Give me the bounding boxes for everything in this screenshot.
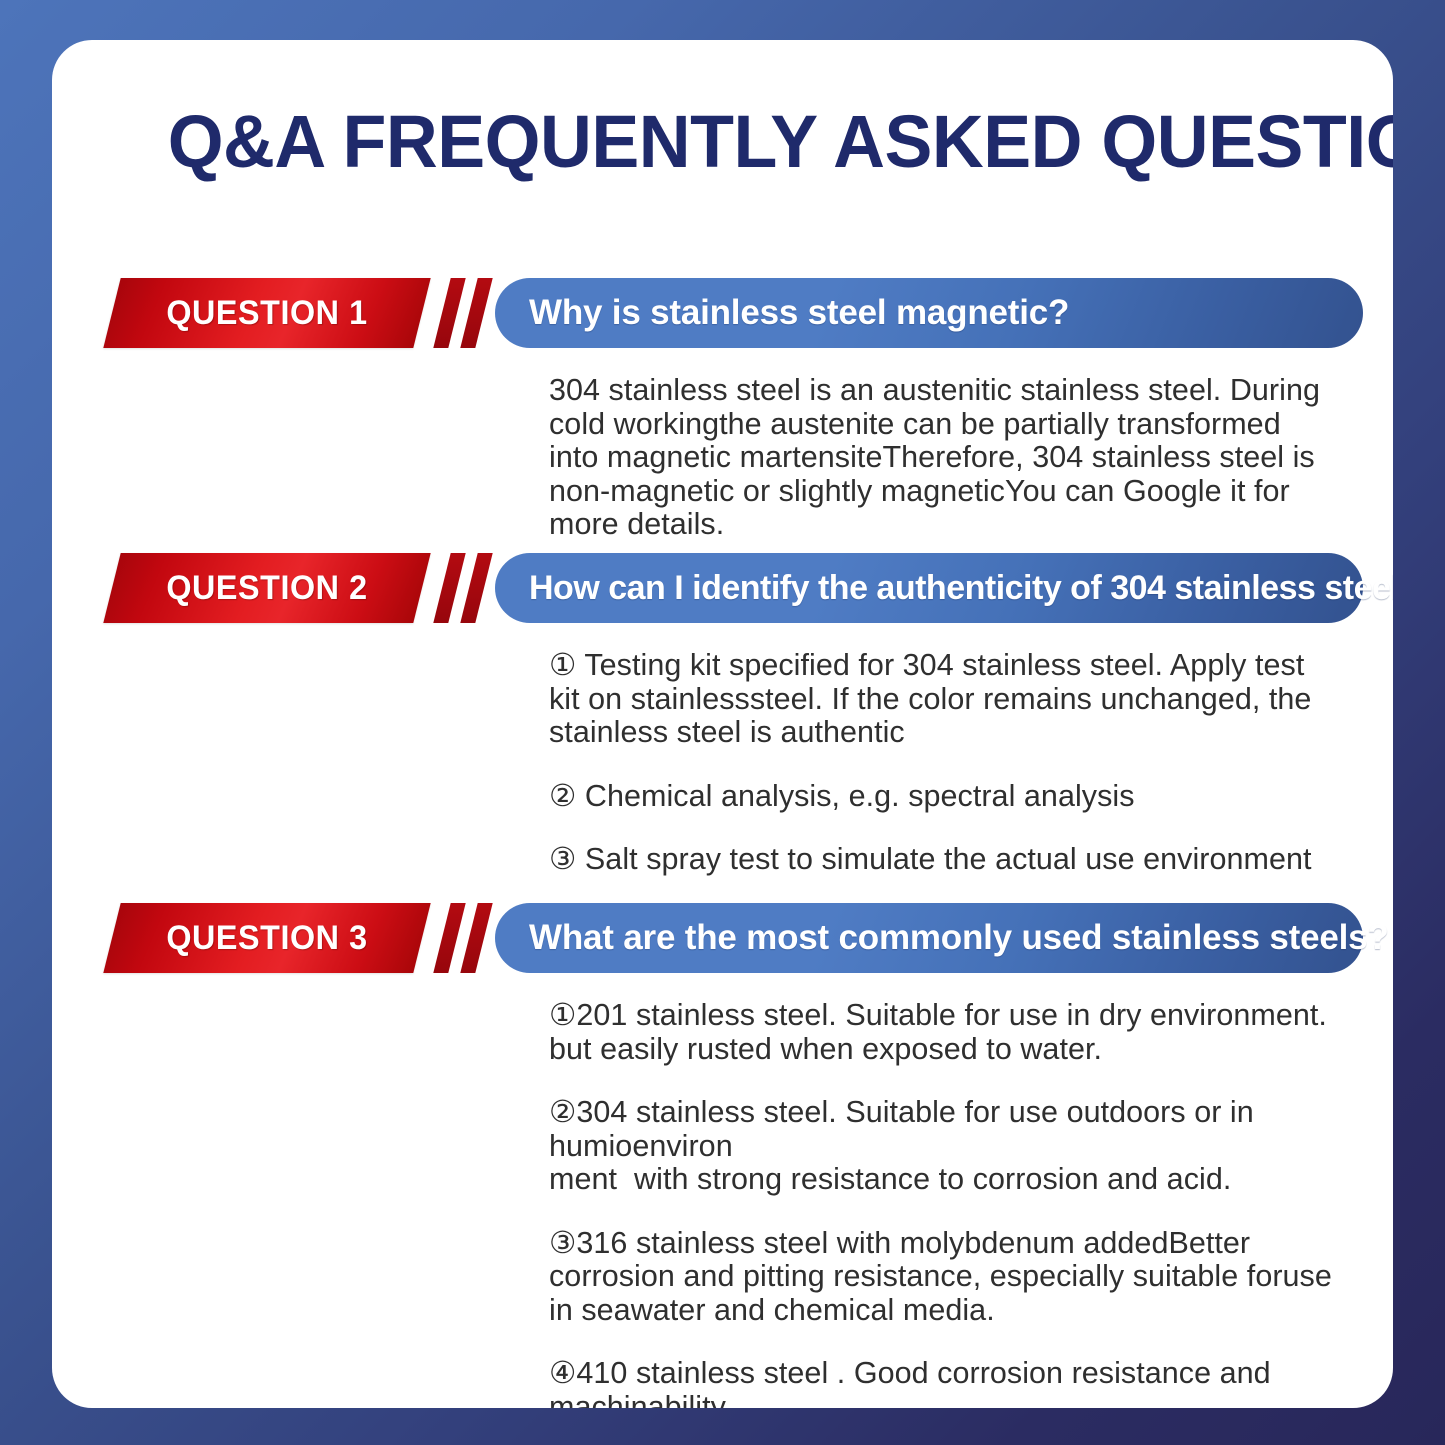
answer-paragraph: ①201 stainless steel. Suitable for use i… <box>549 999 1333 1066</box>
answer-paragraph: 304 stainless steel is an austenitic sta… <box>549 374 1333 542</box>
answer-list-1: 304 stainless steel is an austenitic sta… <box>549 374 1333 542</box>
faq-banner-3: QUESTION 3 What are the most commonly us… <box>52 903 1393 975</box>
faq-item-2: QUESTION 2 How can I identify the authen… <box>52 553 1393 625</box>
question-tag-label-2: QUESTION 2 <box>120 553 415 623</box>
answer-list-3: ①201 stainless steel. Suitable for use i… <box>549 999 1333 1408</box>
slash-icon-2a <box>433 553 465 623</box>
slash-icon-2b <box>460 553 492 623</box>
page-title: Q&A FREQUENTLY ASKED QUESTIONS <box>168 102 1313 182</box>
answer-paragraph: ③ Salt spray test to simulate the actual… <box>549 843 1333 877</box>
faq-card: Q&A FREQUENTLY ASKED QUESTIONS QUESTION … <box>52 40 1393 1408</box>
question-text-2: How can I identify the authenticity of 3… <box>529 569 1393 607</box>
question-tag-label-1: QUESTION 1 <box>120 278 415 348</box>
question-text-1: Why is stainless steel magnetic? <box>529 294 1069 332</box>
faq-banner-1: QUESTION 1 Why is stainless steel magnet… <box>52 278 1393 350</box>
answer-paragraph: ④410 stainless steel . Good corrosion re… <box>549 1357 1333 1408</box>
question-pill-2: How can I identify the authenticity of 3… <box>495 553 1363 623</box>
faq-banner-2: QUESTION 2 How can I identify the authen… <box>52 553 1393 625</box>
answer-paragraph: ② Chemical analysis, e.g. spectral analy… <box>549 780 1333 814</box>
infographic-page: Q&A FREQUENTLY ASKED QUESTIONS QUESTION … <box>0 0 1445 1445</box>
question-text-3: What are the most commonly used stainles… <box>529 919 1389 957</box>
slash-icon-1a <box>433 278 465 348</box>
slash-icon-3a <box>433 903 465 973</box>
answer-list-2: ① Testing kit specified for 304 stainles… <box>549 649 1333 877</box>
answer-paragraph: ③316 stainless steel with molybdenum add… <box>549 1227 1333 1328</box>
question-pill-3: What are the most commonly used stainles… <box>495 903 1363 973</box>
slash-icon-3b <box>460 903 492 973</box>
question-pill-1: Why is stainless steel magnetic? <box>495 278 1363 348</box>
answer-paragraph: ②304 stainless steel. Suitable for use o… <box>549 1096 1333 1197</box>
faq-item-3: QUESTION 3 What are the most commonly us… <box>52 903 1393 975</box>
faq-item-1: QUESTION 1 Why is stainless steel magnet… <box>52 278 1393 350</box>
question-tag-label-3: QUESTION 3 <box>120 903 415 973</box>
slash-icon-1b <box>460 278 492 348</box>
answer-paragraph: ① Testing kit specified for 304 stainles… <box>549 649 1333 750</box>
